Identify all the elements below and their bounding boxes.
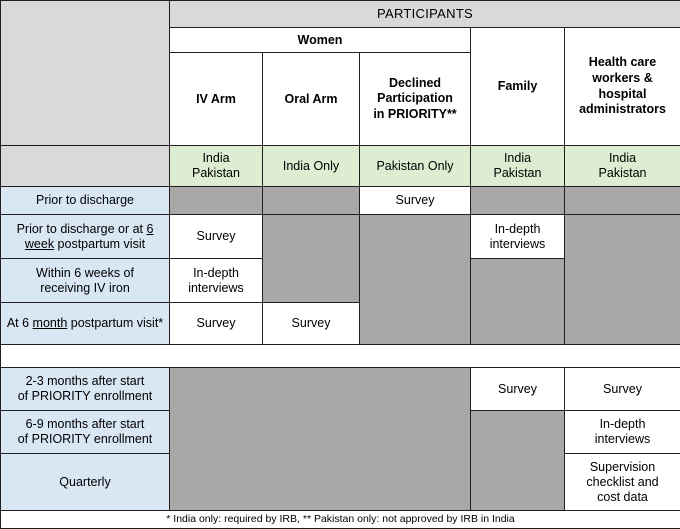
cell-r7-hcw-line-1: Supervision (568, 460, 677, 475)
cell-r6-hcw: In-depth interviews (565, 411, 680, 454)
cell-r2-family: In-depth interviews (471, 215, 565, 259)
cell-r6r7-family (471, 411, 565, 511)
footnote-row: * India only: required by IRB, ** Pakist… (1, 511, 680, 529)
cell-r1-oral-arm (263, 187, 360, 215)
cell-r2-family-line-2: interviews (474, 237, 561, 252)
women-group-header: Women (170, 28, 471, 53)
declined-line-2: Participation (363, 91, 467, 107)
cell-r5r7-women-block (170, 368, 471, 511)
country-iv-arm-line-2: Pakistan (173, 166, 259, 181)
row-label-2-3-months-after-start: 2-3 months after start of PRIORITY enrol… (1, 368, 170, 411)
row3-label-line-1: Within 6 weeks of (4, 266, 166, 281)
country-iv-arm: India Pakistan (170, 146, 263, 187)
column-header-family: Family (471, 28, 565, 146)
cell-r2-family-line-1: In-depth (474, 222, 561, 237)
row-label-prior-discharge-or-6-week: Prior to discharge or at 6 week postpart… (1, 215, 170, 259)
row-label-at-6-month-postpartum: At 6 month postpartum visit* (1, 303, 170, 345)
cell-r4-oral-arm: Survey (263, 303, 360, 345)
row-label-prior-to-discharge: Prior to discharge (1, 187, 170, 215)
cell-r2r3-oral-arm (263, 215, 360, 303)
header-row-participants: PARTICIPANTS (1, 1, 680, 28)
table-row: Prior to discharge or at 6 week postpart… (1, 215, 680, 259)
cell-r5-family: Survey (471, 368, 565, 411)
row-label-within-6-weeks-iv-iron: Within 6 weeks of receiving IV iron (1, 259, 170, 303)
country-hcw-line-1: India (568, 151, 677, 166)
corner-blank-cell (1, 1, 170, 146)
column-header-oral-arm: Oral Arm (263, 53, 360, 146)
cell-r3-iv-arm: In-depth interviews (170, 259, 263, 303)
row4-label-pre: At 6 (7, 316, 33, 330)
hcw-line-2: workers & (568, 71, 677, 87)
cell-r5-hcw: Survey (565, 368, 680, 411)
row3-label-line-2: receiving IV iron (4, 281, 166, 296)
country-declined: Pakistan Only (360, 146, 471, 187)
table-row: Prior to discharge Survey (1, 187, 680, 215)
cell-r2-iv-arm: Survey (170, 215, 263, 259)
country-family: India Pakistan (471, 146, 565, 187)
row2-label-pre: Prior to discharge or at (17, 222, 147, 236)
matrix-table: PARTICIPANTS Women Family Health care wo… (0, 0, 680, 529)
cell-r3r4-family (471, 259, 565, 345)
country-family-line-1: India (474, 151, 561, 166)
hcw-line-4: administrators (568, 102, 677, 118)
country-iv-arm-line-1: India (173, 151, 259, 166)
row6-label-line-2: of PRIORITY enrollment (4, 432, 166, 447)
hcw-line-3: hospital (568, 87, 677, 103)
column-header-iv-arm: IV Arm (170, 53, 263, 146)
cell-r7-hcw-line-3: cost data (568, 490, 677, 505)
column-header-declined-participation: Declined Participation in PRIORITY** (360, 53, 471, 146)
country-hcw: India Pakistan (565, 146, 680, 187)
country-family-line-2: Pakistan (474, 166, 561, 181)
participants-header: PARTICIPANTS (170, 1, 680, 28)
cell-r3-iv-arm-line-1: In-depth (173, 266, 259, 281)
cell-r6-hcw-line-1: In-depth (568, 417, 677, 432)
cell-r1-declined: Survey (360, 187, 471, 215)
hcw-line-1: Health care (568, 55, 677, 71)
cell-r4-iv-arm: Survey (170, 303, 263, 345)
row-label-quarterly: Quarterly (1, 454, 170, 511)
row4-label-underlined: month (33, 316, 68, 330)
declined-line-1: Declined (363, 76, 467, 92)
cell-r1-family (471, 187, 565, 215)
section-spacer-cell (1, 345, 680, 368)
row5-label-line-1: 2-3 months after start (4, 374, 166, 389)
footnote-text: * India only: required by IRB, ** Pakist… (1, 511, 680, 529)
cell-r3-iv-arm-line-2: interviews (173, 281, 259, 296)
row5-label-line-2: of PRIORITY enrollment (4, 389, 166, 404)
table-row: 2-3 months after start of PRIORITY enrol… (1, 368, 680, 411)
cell-r6-hcw-line-2: interviews (568, 432, 677, 447)
row6-label-line-1: 6-9 months after start (4, 417, 166, 432)
cell-r1-iv-arm (170, 187, 263, 215)
cell-r1-hcw (565, 187, 680, 215)
declined-line-3: in PRIORITY** (363, 107, 467, 123)
section-spacer-row (1, 345, 680, 368)
row4-label-post: postpartum visit* (67, 316, 163, 330)
cell-r7-hcw: Supervision checklist and cost data (565, 454, 680, 511)
country-oral-arm: India Only (263, 146, 360, 187)
country-row-blank (1, 146, 170, 187)
data-collection-matrix: PARTICIPANTS Women Family Health care wo… (0, 0, 680, 494)
column-header-health-care-workers: Health care workers & hospital administr… (565, 28, 680, 146)
row-label-6-9-months-after-start: 6-9 months after start of PRIORITY enrol… (1, 411, 170, 454)
row2-label-post: postpartum visit (54, 237, 145, 251)
country-hcw-line-2: Pakistan (568, 166, 677, 181)
cell-r2r4-declined (360, 215, 471, 345)
country-row: India Pakistan India Only Pakistan Only … (1, 146, 680, 187)
cell-r7-hcw-line-2: checklist and (568, 475, 677, 490)
cell-r2r4-hcw (565, 215, 680, 345)
